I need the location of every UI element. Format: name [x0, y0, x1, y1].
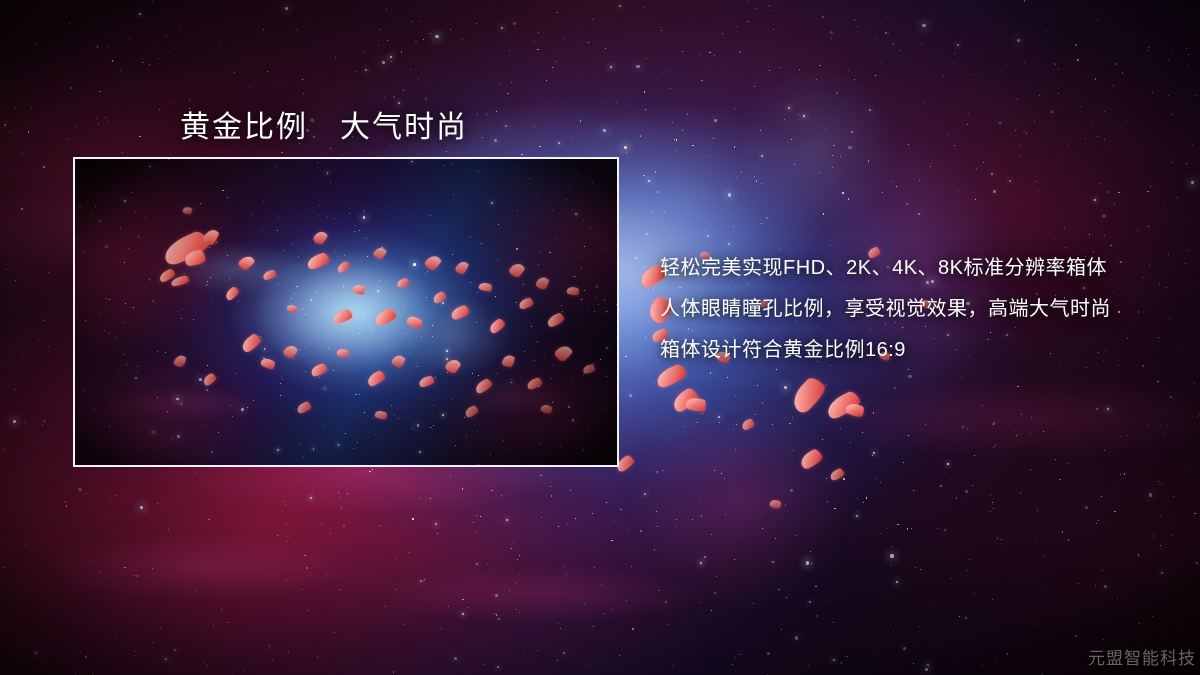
watermark-label: 元盟智能科技: [1088, 644, 1196, 669]
photo-vignette: [75, 159, 617, 465]
slide-title: 黄金比例 大气时尚: [180, 102, 468, 146]
body-line-1: 轻松完美实现FHD、2K、4K、8K标准分辨率箱体: [660, 258, 1160, 279]
body-line-2: 人体眼睛瞳孔比例，享受视觉效果，高端大气时尚: [660, 299, 1160, 320]
body-text-block: 轻松完美实现FHD、2K、4K、8K标准分辨率箱体 人体眼睛瞳孔比例，享受视觉效…: [660, 258, 1160, 361]
framed-photo: [73, 157, 619, 467]
body-line-3: 箱体设计符合黄金比例16:9: [660, 340, 1160, 361]
presentation-slide: 黄金比例 大气时尚 轻松完美实现FHD、2K、4K、8K标准分辨率箱体 人体眼睛…: [0, 0, 1200, 675]
